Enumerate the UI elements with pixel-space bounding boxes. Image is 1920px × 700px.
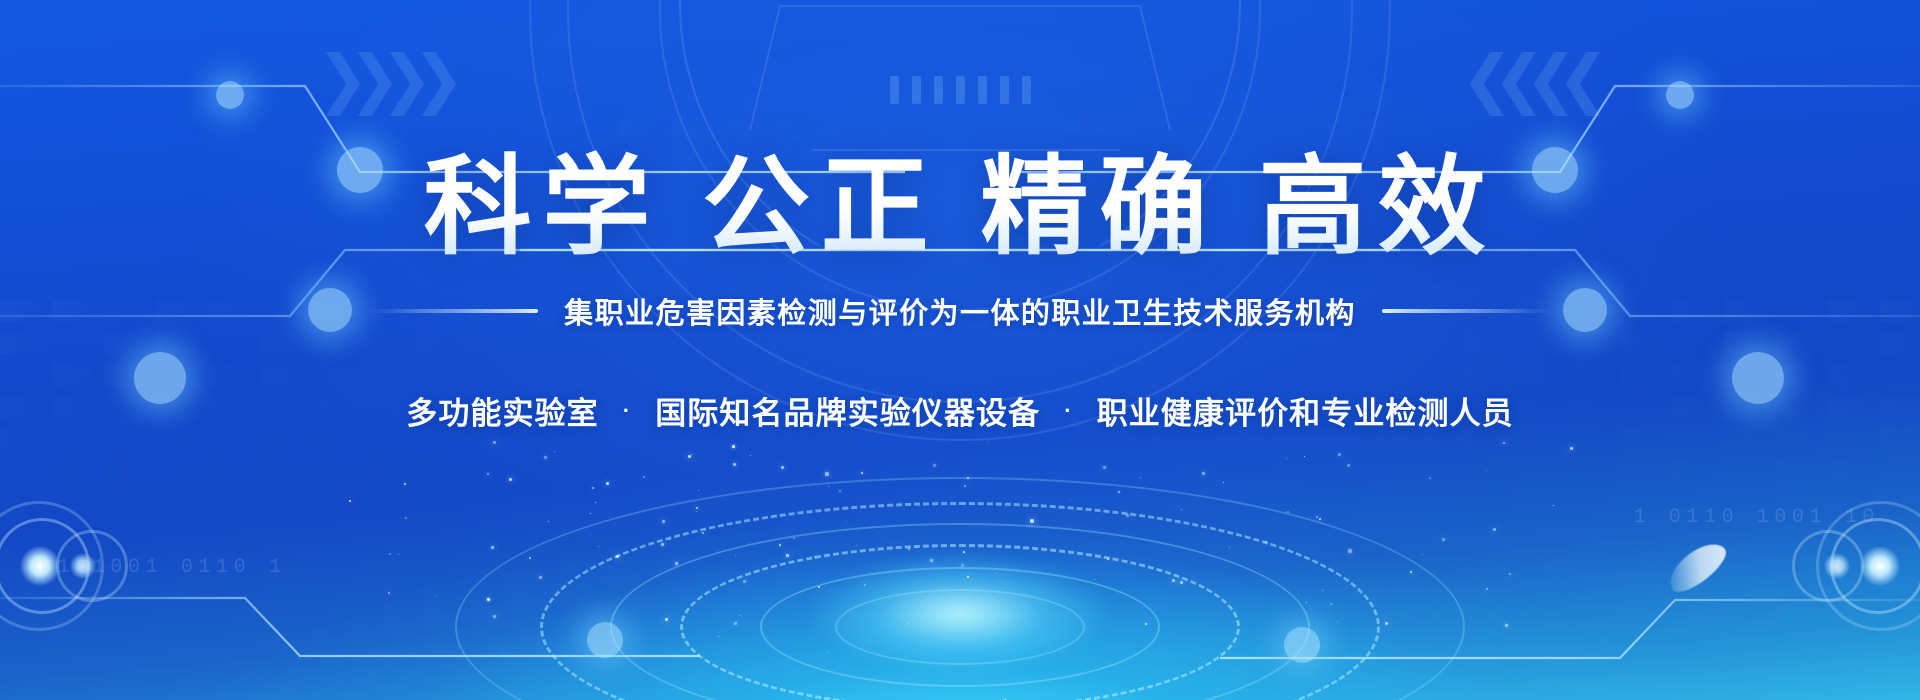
tagline-separator: ·: [1064, 398, 1072, 424]
divider-left: [370, 309, 538, 313]
tagline-item-2: 国际知名品牌实验仪器设备: [655, 388, 1040, 433]
banner-content: 科学 公正 精确 高效 集职业危害因素检测与评价为一体的职业卫生技术服务机构 多…: [0, 0, 1920, 700]
tagline-item-3: 职业健康评价和专业检测人员: [1097, 388, 1514, 433]
tagline-row: 多功能实验室 · 国际知名品牌实验仪器设备 · 职业健康评价和专业检测人员: [406, 388, 1514, 433]
tagline-item-1: 多功能实验室: [406, 388, 599, 433]
hero-banner: 01 1001 0110 1 1 0110 1001 10 科学 公正 精确 高…: [0, 0, 1920, 700]
divider-right: [1382, 309, 1550, 313]
subtitle-row: 集职业危害因素检测与评价为一体的职业卫生技术服务机构: [370, 290, 1550, 332]
tagline-separator: ·: [623, 398, 631, 424]
banner-subtitle: 集职业危害因素检测与评价为一体的职业卫生技术服务机构: [564, 290, 1356, 332]
page-title: 科学 公正 精确 高效: [424, 150, 1497, 264]
